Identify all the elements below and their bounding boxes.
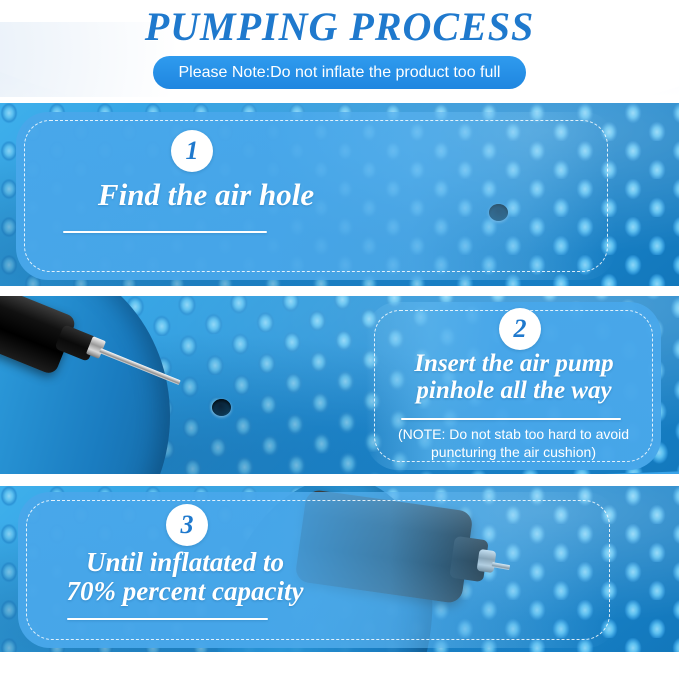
step-3-underline — [67, 618, 268, 620]
pumping-process-infographic: PUMPING PROCESS Please Note:Do not infla… — [0, 0, 679, 679]
step-3-card: 3 Until inflatated to 70% percent capaci… — [18, 492, 618, 648]
step-1-underline — [63, 231, 267, 233]
step-1-label: Find the air hole — [56, 178, 356, 211]
step-2-number-badge: 2 — [499, 308, 541, 350]
step-2-note: (NOTE: Do not stab too hard to avoid pun… — [376, 426, 651, 461]
bottom-margin — [0, 652, 679, 679]
step-2-underline — [401, 418, 621, 420]
step-3-label: Until inflatated to 70% percent capacity — [34, 548, 336, 606]
step-2-card: 2 Insert the air pump pinhole all the wa… — [366, 302, 661, 470]
step-3-number-badge: 3 — [166, 504, 208, 546]
step-3-label-line-1: Until inflatated to — [34, 548, 336, 577]
step-2-label-line-2: pinhole all the way — [380, 377, 648, 404]
step-3-label-line-2: 70% percent capacity — [34, 577, 336, 606]
step-1-card: 1 Find the air hole — [16, 112, 616, 280]
please-note-badge: Please Note:Do not inflate the product t… — [153, 56, 527, 89]
air-hole-icon — [212, 399, 231, 416]
step-2-label: Insert the air pump pinhole all the way — [380, 350, 648, 404]
page-title: PUMPING PROCESS — [0, 3, 679, 50]
step-1-number-badge: 1 — [171, 130, 213, 172]
step-2-label-line-1: Insert the air pump — [380, 350, 648, 377]
